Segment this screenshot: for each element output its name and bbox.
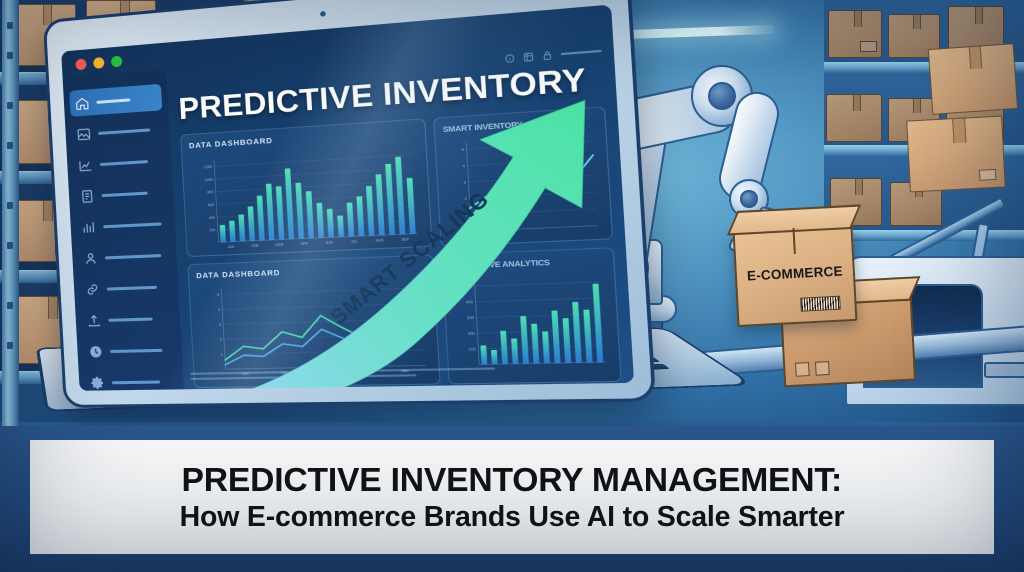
- sidebar-item-integrations[interactable]: [79, 273, 173, 303]
- machine-panel: [984, 362, 1024, 378]
- barcode-icon: [800, 296, 841, 312]
- line-chart: 12345: [443, 127, 603, 246]
- carton-ramp-top: [928, 43, 1018, 115]
- svg-text:600: 600: [208, 202, 215, 206]
- laptop-screen: PREDICTIVE INVENTORY DATA DASHBOARD: [61, 5, 634, 391]
- banner-frame: PREDICTIVE INVENTORY MANAGEMENT: How E-c…: [0, 426, 1024, 572]
- bar-chart: 20040060080010001200 JANFEBMARAPRJUNJULA…: [189, 139, 423, 257]
- carton-ramp-mid: [906, 116, 1006, 193]
- card-predictive-analytics[interactable]: PREDICTIVE ANALYTICS 100200300400500: [441, 247, 622, 384]
- gear-icon: [90, 375, 106, 390]
- image-icon: [76, 126, 92, 142]
- svg-text:AUG: AUG: [375, 238, 384, 243]
- sidebar-item-upload[interactable]: [81, 305, 175, 334]
- upload-icon: [86, 312, 102, 327]
- document-icon: [79, 188, 95, 204]
- sidebar-item-reports[interactable]: [76, 210, 169, 241]
- carton-label: E-COMMERCE: [737, 263, 854, 284]
- clock-icon: [88, 344, 104, 359]
- close-dot[interactable]: [75, 58, 86, 70]
- svg-text:JUN: JUN: [325, 240, 333, 244]
- sidebar-item-users[interactable]: [78, 241, 171, 271]
- sidebar-item-media[interactable]: [71, 115, 164, 147]
- lock-icon[interactable]: [542, 50, 553, 61]
- svg-text:200: 200: [468, 332, 475, 336]
- title-banner: PREDICTIVE INVENTORY MANAGEMENT: How E-c…: [30, 440, 994, 554]
- svg-text:1: 1: [220, 353, 222, 357]
- sidebar-item-home[interactable]: [69, 84, 162, 117]
- card-data-dashboard-bars[interactable]: DATA DASHBOARD: [180, 118, 433, 257]
- svg-text:1200: 1200: [204, 164, 213, 169]
- svg-text:300: 300: [467, 316, 474, 320]
- svg-text:800: 800: [207, 190, 214, 194]
- laptop: PREDICTIVE INVENTORY DATA DASHBOARD: [46, 18, 666, 448]
- svg-text:1: 1: [465, 213, 468, 217]
- minimize-dot[interactable]: [93, 57, 104, 69]
- user-icon: [83, 250, 99, 266]
- svg-text:FEB: FEB: [251, 243, 258, 247]
- sidebar-item-history[interactable]: [83, 336, 177, 364]
- app-sidebar: [63, 69, 184, 391]
- grid-icon[interactable]: [523, 51, 534, 62]
- svg-text:1000: 1000: [204, 177, 213, 182]
- svg-text:100: 100: [469, 347, 476, 351]
- svg-text:2: 2: [464, 196, 467, 200]
- banner-headline: PREDICTIVE INVENTORY MANAGEMENT:: [182, 461, 843, 499]
- sidebar-item-documents[interactable]: [74, 178, 167, 209]
- bar-chart-icon: [81, 219, 97, 235]
- svg-text:5: 5: [461, 147, 464, 151]
- toolbar-divider: [561, 50, 602, 56]
- poster-canvas: E-COMMERCE: [0, 0, 1024, 572]
- svg-text:400: 400: [209, 215, 216, 219]
- svg-text:4: 4: [218, 308, 220, 312]
- dashboard-grid: DATA DASHBOARD: [180, 106, 622, 388]
- window-controls[interactable]: [75, 55, 122, 70]
- laptop-lid: PREDICTIVE INVENTORY DATA DASHBOARD: [43, 0, 656, 408]
- svg-text:2: 2: [220, 338, 222, 342]
- card-data-dashboard-lines[interactable]: DATA DASHBOARD 12345 JANFEBMARAPRMAY: [187, 254, 440, 387]
- info-icon[interactable]: [504, 53, 515, 64]
- link-icon: [85, 281, 101, 297]
- svg-text:APR: APR: [300, 241, 308, 245]
- carton-ecommerce: E-COMMERCE: [733, 225, 858, 327]
- maximize-dot[interactable]: [111, 55, 123, 67]
- banner-subheadline: How E-commerce Brands Use AI to Scale Sm…: [180, 501, 845, 534]
- card-smart-inventory[interactable]: SMART INVENTORY 12345: [433, 106, 613, 247]
- svg-text:3: 3: [219, 323, 221, 327]
- handling-icons: [795, 361, 830, 377]
- svg-text:SEP: SEP: [401, 237, 409, 242]
- sidebar-item-trends[interactable]: [73, 147, 166, 179]
- sidebar-item-settings[interactable]: [84, 368, 178, 391]
- svg-text:5: 5: [217, 293, 219, 297]
- svg-text:500: 500: [465, 285, 472, 289]
- webcam-icon: [320, 11, 326, 17]
- svg-text:3: 3: [463, 180, 466, 184]
- home-icon: [74, 95, 90, 111]
- svg-text:MAR: MAR: [275, 242, 284, 246]
- svg-text:4: 4: [462, 164, 465, 168]
- svg-text:JUL: JUL: [351, 239, 358, 243]
- app-content: PREDICTIVE INVENTORY DATA DASHBOARD: [166, 33, 634, 389]
- svg-text:JAN: JAN: [227, 244, 235, 248]
- trend-chart-icon: [78, 157, 94, 173]
- svg-text:200: 200: [209, 228, 216, 232]
- svg-text:400: 400: [466, 300, 473, 304]
